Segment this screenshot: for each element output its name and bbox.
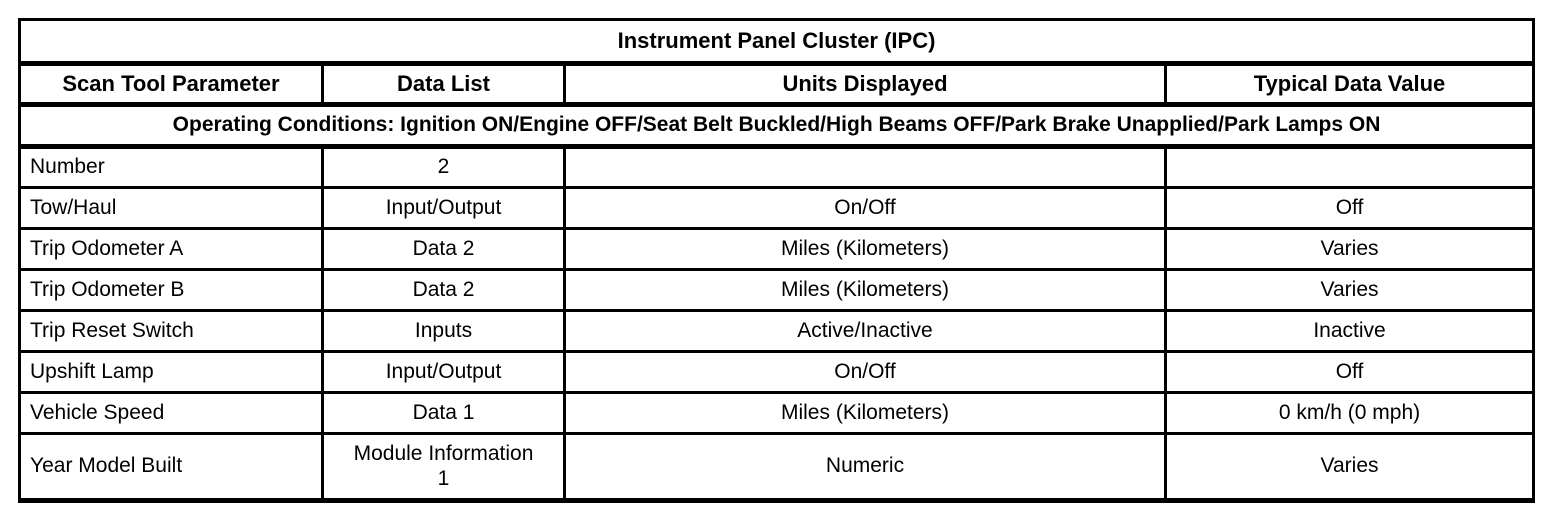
table-row: Number 2 <box>20 147 1534 188</box>
cell-data-list: Inputs <box>323 311 565 352</box>
cell-parameter: Upshift Lamp <box>20 352 323 393</box>
column-header-typical-data-value: Typical Data Value <box>1166 64 1534 105</box>
cell-typical-value <box>1166 147 1534 188</box>
cell-parameter: Vehicle Speed <box>20 393 323 434</box>
table-row: Trip Reset Switch Inputs Active/Inactive… <box>20 311 1534 352</box>
cell-data-list-line-2: 1 <box>330 467 557 492</box>
cell-data-list: 2 <box>323 147 565 188</box>
cell-units: On/Off <box>565 188 1166 229</box>
cell-typical-value: Varies <box>1166 434 1534 501</box>
cell-parameter: Tow/Haul <box>20 188 323 229</box>
cell-parameter: Trip Odometer B <box>20 270 323 311</box>
cell-units: Miles (Kilometers) <box>565 393 1166 434</box>
ipc-table-container: Instrument Panel Cluster (IPC) Scan Tool… <box>18 18 1532 503</box>
column-header-data-list: Data List <box>323 64 565 105</box>
table-row: Tow/Haul Input/Output On/Off Off <box>20 188 1534 229</box>
cell-typical-value: Varies <box>1166 229 1534 270</box>
cell-parameter: Year Model Built <box>20 434 323 501</box>
table-row: Vehicle Speed Data 1 Miles (Kilometers) … <box>20 393 1534 434</box>
cell-data-list: Data 1 <box>323 393 565 434</box>
cell-parameter: Trip Reset Switch <box>20 311 323 352</box>
table-row: Year Model Built Module Information 1 Nu… <box>20 434 1534 501</box>
cell-units: Active/Inactive <box>565 311 1166 352</box>
cell-data-list: Data 2 <box>323 229 565 270</box>
column-header-scan-tool-parameter: Scan Tool Parameter <box>20 64 323 105</box>
table-row: Trip Odometer B Data 2 Miles (Kilometers… <box>20 270 1534 311</box>
cell-data-list: Data 2 <box>323 270 565 311</box>
cell-parameter: Number <box>20 147 323 188</box>
cell-data-list: Module Information 1 <box>323 434 565 501</box>
column-header-units-displayed: Units Displayed <box>565 64 1166 105</box>
table-title-row: Instrument Panel Cluster (IPC) <box>20 20 1534 64</box>
cell-parameter: Trip Odometer A <box>20 229 323 270</box>
cell-units: Numeric <box>565 434 1166 501</box>
cell-typical-value: Inactive <box>1166 311 1534 352</box>
operating-conditions-row: Operating Conditions: Ignition ON/Engine… <box>20 105 1534 147</box>
table-title: Instrument Panel Cluster (IPC) <box>20 20 1534 64</box>
cell-units <box>565 147 1166 188</box>
cell-data-list: Input/Output <box>323 352 565 393</box>
cell-typical-value: 0 km/h (0 mph) <box>1166 393 1534 434</box>
table-row: Trip Odometer A Data 2 Miles (Kilometers… <box>20 229 1534 270</box>
table-row: Upshift Lamp Input/Output On/Off Off <box>20 352 1534 393</box>
cell-units: Miles (Kilometers) <box>565 229 1166 270</box>
cell-typical-value: Off <box>1166 188 1534 229</box>
cell-typical-value: Varies <box>1166 270 1534 311</box>
instrument-panel-cluster-table: Instrument Panel Cluster (IPC) Scan Tool… <box>18 18 1535 503</box>
table-header-row: Scan Tool Parameter Data List Units Disp… <box>20 64 1534 105</box>
page-root: Instrument Panel Cluster (IPC) Scan Tool… <box>0 0 1568 530</box>
cell-data-list: Input/Output <box>323 188 565 229</box>
cell-units: Miles (Kilometers) <box>565 270 1166 311</box>
cell-data-list-line-1: Module Information <box>330 442 557 467</box>
cell-units: On/Off <box>565 352 1166 393</box>
operating-conditions-text: Operating Conditions: Ignition ON/Engine… <box>20 105 1534 147</box>
cell-typical-value: Off <box>1166 352 1534 393</box>
